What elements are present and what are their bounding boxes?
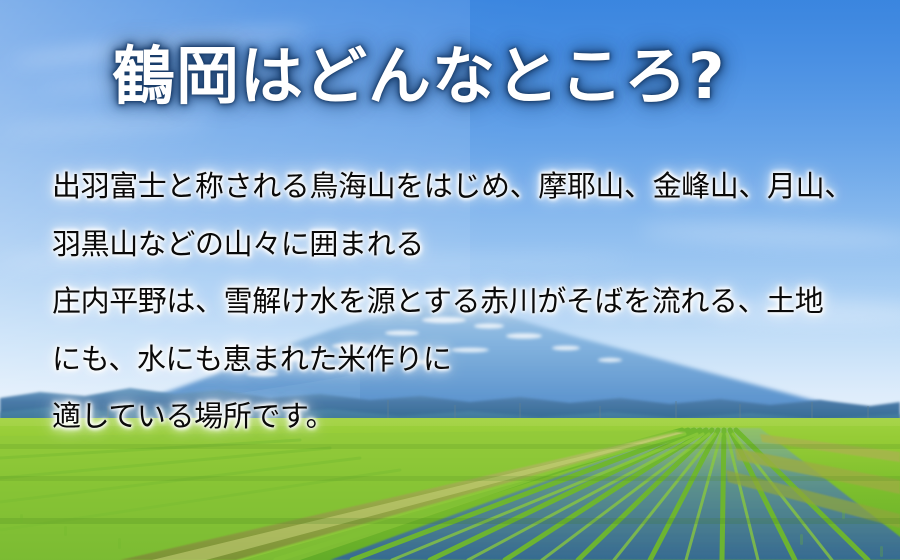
description-line: 庄内平野は、雪解け水を源とする赤川がそばを流れる、土地: [52, 273, 872, 331]
description-line: 適している場所です。: [52, 388, 872, 446]
description-line: にも、水にも恵まれた米作りに: [52, 331, 872, 389]
description-line: 出羽富士と称される鳥海山をはじめ、摩耶山、金峰山、月山、: [52, 158, 872, 216]
description-line: 羽黒山などの山々に囲まれる: [52, 216, 872, 274]
description-text: 出羽富士と称される鳥海山をはじめ、摩耶山、金峰山、月山、 羽黒山などの山々に囲ま…: [52, 158, 872, 446]
tsuruoka-intro-banner: 鶴岡はどんなところ? 出羽富士と称される鳥海山をはじめ、摩耶山、金峰山、月山、 …: [0, 0, 900, 560]
page-title: 鶴岡はどんなところ?: [112, 44, 726, 110]
